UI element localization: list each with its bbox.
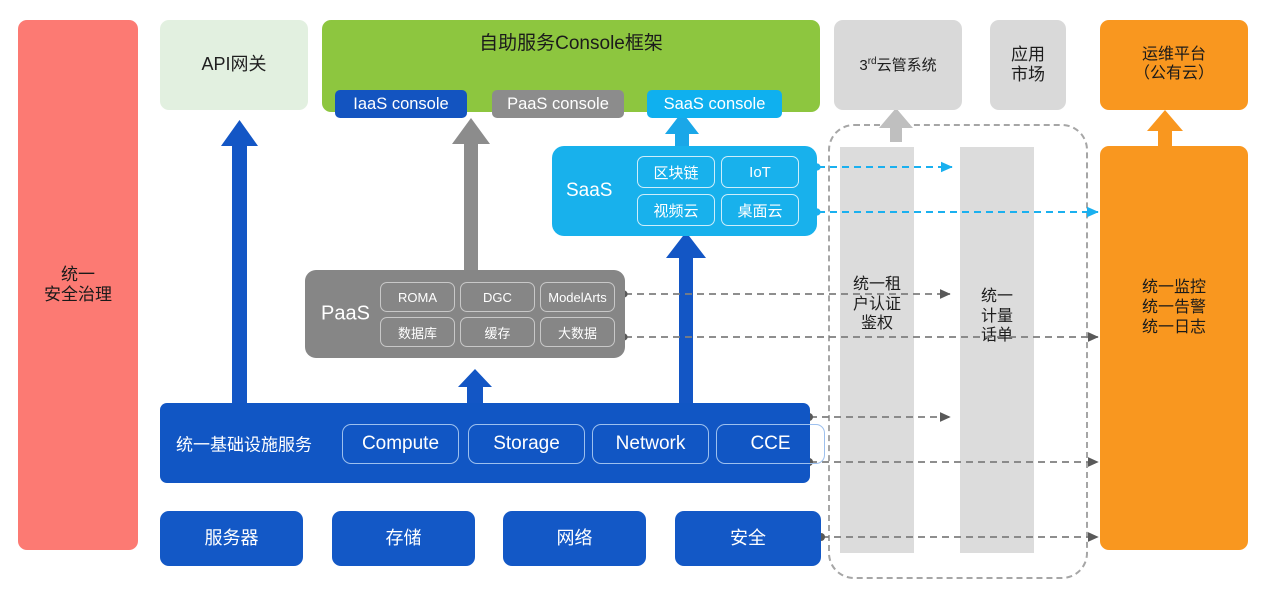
app-market-box[interactable]: 应用 市场 bbox=[990, 20, 1066, 110]
resource-box-network[interactable]: 网络 bbox=[503, 511, 646, 566]
arrow-ops-capabilities-to-ops-platform bbox=[1147, 110, 1183, 146]
third-party-prefix: 3 bbox=[859, 57, 867, 74]
saas-box[interactable]: SaaS 区块链 IoT 视频云 桌面云 bbox=[552, 146, 817, 236]
infrastructure-chip-storage[interactable]: Storage bbox=[468, 424, 585, 464]
tenant-auth-line-1: 统一租 bbox=[840, 275, 914, 295]
metering-line-3: 话单 bbox=[960, 326, 1034, 346]
architecture-diagram: 统一租 户认证 鉴权 统一 计量 话单 bbox=[0, 0, 1265, 605]
third-party-label: 3rd云管系统 bbox=[859, 56, 936, 75]
ops-capability-line-3: 统一日志 bbox=[1100, 318, 1248, 338]
arrow-infra-to-paas bbox=[458, 369, 492, 404]
saas-chip-desktop-cloud[interactable]: 桌面云 bbox=[721, 194, 799, 226]
third-party-suffix: 云管系统 bbox=[877, 57, 937, 74]
paas-chip-cache[interactable]: 缓存 bbox=[460, 317, 535, 347]
ops-platform-line-1: 运维平台 bbox=[1134, 46, 1214, 65]
console-chip-iaas[interactable]: IaaS console bbox=[335, 90, 467, 118]
saas-chip-iot[interactable]: IoT bbox=[721, 156, 799, 188]
ops-platform-box[interactable]: 运维平台 （公有云） bbox=[1100, 20, 1248, 110]
api-gateway-label: API网关 bbox=[201, 54, 266, 75]
arrow-infra-to-api-gateway bbox=[221, 120, 258, 405]
infrastructure-chip-network[interactable]: Network bbox=[592, 424, 709, 464]
app-market-line-2: 市场 bbox=[1011, 65, 1045, 85]
arrow-infra-to-saas bbox=[666, 232, 706, 404]
ops-capability-line-1: 统一监控 bbox=[1100, 278, 1248, 298]
paas-label: PaaS bbox=[321, 303, 370, 326]
paas-chip-dgc[interactable]: DGC bbox=[460, 282, 535, 312]
third-party-sup: rd bbox=[868, 56, 877, 67]
console-chip-saas[interactable]: SaaS console bbox=[647, 90, 782, 118]
saas-chip-blockchain[interactable]: 区块链 bbox=[637, 156, 715, 188]
paas-chip-roma[interactable]: ROMA bbox=[380, 282, 455, 312]
resource-box-storage[interactable]: 存储 bbox=[332, 511, 475, 566]
api-gateway-box[interactable]: API网关 bbox=[160, 20, 308, 110]
infrastructure-chip-compute[interactable]: Compute bbox=[342, 424, 459, 464]
ops-platform-line-2: （公有云） bbox=[1134, 65, 1214, 84]
saas-chip-video-cloud[interactable]: 视频云 bbox=[637, 194, 715, 226]
resource-box-server[interactable]: 服务器 bbox=[160, 511, 303, 566]
security-label-line-1: 统一 bbox=[44, 265, 112, 285]
third-party-cloud-management-box[interactable]: 3rd云管系统 bbox=[834, 20, 962, 110]
tenant-auth-line-3: 鉴权 bbox=[840, 314, 914, 334]
ops-capabilities-column[interactable]: 统一监控 统一告警 统一日志 bbox=[1100, 146, 1248, 550]
arrow-paas-to-console bbox=[452, 118, 490, 270]
ops-capability-line-2: 统一告警 bbox=[1100, 298, 1248, 318]
paas-chip-bigdata[interactable]: 大数据 bbox=[540, 317, 615, 347]
console-frame-title: 自助服务Console框架 bbox=[322, 28, 820, 55]
shared-service-column-tenant-auth: 统一租 户认证 鉴权 bbox=[840, 147, 914, 553]
paas-chip-modelarts[interactable]: ModelArts bbox=[540, 282, 615, 312]
metering-line-2: 计量 bbox=[960, 307, 1034, 327]
saas-label: SaaS bbox=[566, 180, 612, 202]
tenant-auth-line-2: 户认证 bbox=[840, 295, 914, 315]
security-label-line-2: 安全治理 bbox=[44, 285, 112, 305]
app-market-line-1: 应用 bbox=[1011, 45, 1045, 65]
infrastructure-label: 统一基础设施服务 bbox=[176, 431, 312, 456]
self-service-console-frame[interactable]: 自助服务Console框架 IaaS console PaaS console … bbox=[322, 20, 820, 112]
unified-security-governance-column[interactable]: 统一 安全治理 bbox=[18, 20, 138, 550]
infrastructure-chip-cce[interactable]: CCE bbox=[716, 424, 825, 464]
paas-box[interactable]: PaaS ROMA DGC ModelArts 数据库 缓存 大数据 bbox=[305, 270, 625, 358]
unified-infrastructure-bar[interactable]: 统一基础设施服务 Compute Storage Network CCE bbox=[160, 403, 810, 483]
console-chip-paas[interactable]: PaaS console bbox=[492, 90, 624, 118]
metering-line-1: 统一 bbox=[960, 287, 1034, 307]
resource-box-security[interactable]: 安全 bbox=[675, 511, 821, 566]
shared-service-column-metering-billing: 统一 计量 话单 bbox=[960, 147, 1034, 553]
paas-chip-database[interactable]: 数据库 bbox=[380, 317, 455, 347]
